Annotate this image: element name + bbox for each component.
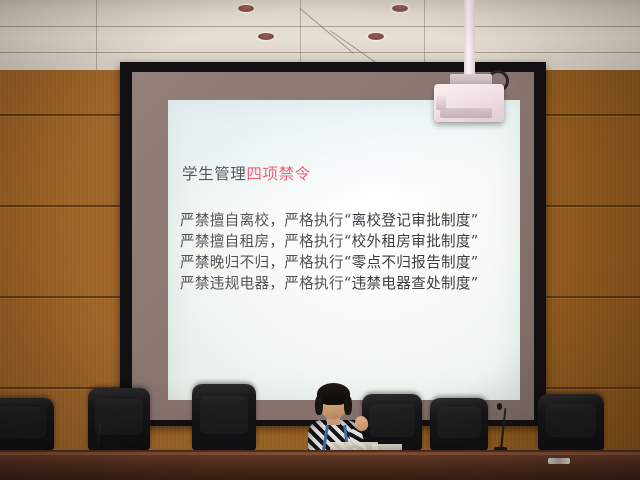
ceiling-light-icon xyxy=(368,33,384,40)
slide-line-lead: 严禁晚归不归，严格执行 xyxy=(180,254,344,271)
ceiling-cable xyxy=(300,8,354,54)
ceiling-light-icon xyxy=(238,5,254,12)
slide-title-red: 四项禁令 xyxy=(246,165,310,183)
chair xyxy=(538,394,604,450)
projected-slide: 学生管理四项禁令 严禁擅自离校，严格执行“离校登记审批制度” 严禁擅自租房，严格… xyxy=(168,100,520,400)
microphone-head-icon xyxy=(497,403,502,410)
slide-title-dark: 学生管理 xyxy=(182,165,246,183)
slide-line-lead: 严禁擅自离校，严格执行 xyxy=(180,212,344,229)
ceiling-light-icon xyxy=(392,5,408,12)
projector-mount-pole xyxy=(464,0,475,82)
slide-line: 严禁擅自租房，严格执行“校外租房审批制度” xyxy=(180,231,510,252)
slide-body: 严禁擅自离校，严格执行“离校登记审批制度” 严禁擅自租房，严格执行“校外租房审批… xyxy=(180,210,510,294)
chair xyxy=(0,398,54,450)
projector-lens-icon xyxy=(436,96,446,110)
slide-line-quote: “违禁电器查处制度” xyxy=(344,275,479,292)
chair xyxy=(430,398,488,450)
slide-line-lead: 严禁违规电器，严格执行 xyxy=(180,275,344,292)
slide-line-lead: 严禁擅自租房，严格执行 xyxy=(180,233,344,250)
slide-line: 严禁违规电器，严格执行“违禁电器查处制度” xyxy=(180,273,510,294)
slide-title: 学生管理四项禁令 xyxy=(182,162,311,184)
table-device xyxy=(548,458,570,464)
table-edge xyxy=(0,452,640,455)
lecture-hall-photo: 学生管理四项禁令 严禁擅自离校，严格执行“离校登记审批制度” 严禁擅自租房，严格… xyxy=(0,0,640,480)
slide-line: 严禁晚归不归，严格执行“零点不归报告制度” xyxy=(180,252,510,273)
slide-line-quote: “离校登记审批制度” xyxy=(344,212,479,229)
presenter-hair-side xyxy=(344,396,352,415)
slide-line-quote: “零点不归报告制度” xyxy=(344,254,479,271)
slide-line: 严禁擅自离校，严格执行“离校登记审批制度” xyxy=(180,210,510,231)
chair xyxy=(192,384,256,450)
presenter-hair-side xyxy=(315,396,323,415)
papers-on-table xyxy=(330,442,378,450)
ceiling-light-icon xyxy=(258,33,274,40)
slide-line-quote: “校外租房审批制度” xyxy=(344,233,479,250)
